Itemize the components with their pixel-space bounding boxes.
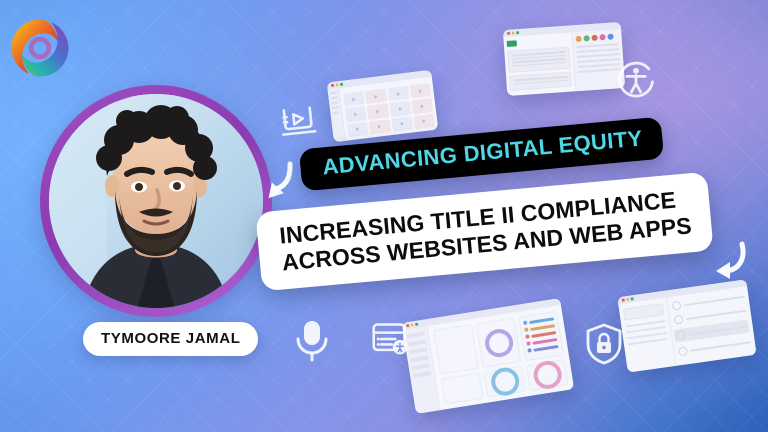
browser-window-card [503,22,625,96]
shield-lock-icon [584,322,624,366]
sidebar-button [623,303,664,320]
accessibility-icon [614,58,658,102]
window-dot-green [415,323,418,326]
microphone-icon [293,318,331,364]
window-dot-red [507,32,510,35]
rainbow-swirl-logo[interactable] [6,14,74,82]
video-library-card [327,70,439,142]
window-dot-green [340,83,343,86]
status-chip [507,40,517,47]
donut-chart-purple [483,327,515,359]
window-dot-yellow [411,324,414,327]
speaker-name-badge: TYMOORE JAMAL [83,322,258,356]
video-tile-grid [339,77,438,141]
avatar [49,94,263,308]
video-player-icon [276,101,320,141]
donut-panel [526,359,569,391]
arrow-curved-left-icon [706,240,748,289]
donut-panel [476,317,522,368]
bar-list-panel [518,311,564,362]
window-dot-yellow [335,84,338,87]
speaker-portrait-ring [40,85,272,317]
form-accessibility-icon [370,320,410,358]
kpi-panel [433,324,479,375]
content-block [509,72,572,91]
window-dot-yellow [511,32,514,35]
window-dot-red [622,299,625,302]
promo-banner: TYMOORE JAMAL ADVANCING DIGITAL EQUITY I… [0,0,768,432]
donut-chart-blue [489,366,521,398]
arrow-curved-down-left-icon [258,158,296,213]
content-block [507,47,570,73]
option-list [667,286,757,366]
avatar-row [575,33,618,42]
text-panel [441,373,484,405]
donut-panel [483,366,526,398]
window-dot-green [631,297,634,300]
donut-chart-pink [531,359,563,391]
window-dot-green [516,31,519,34]
window-dot-yellow [626,298,629,301]
window-dot-red [331,84,334,87]
